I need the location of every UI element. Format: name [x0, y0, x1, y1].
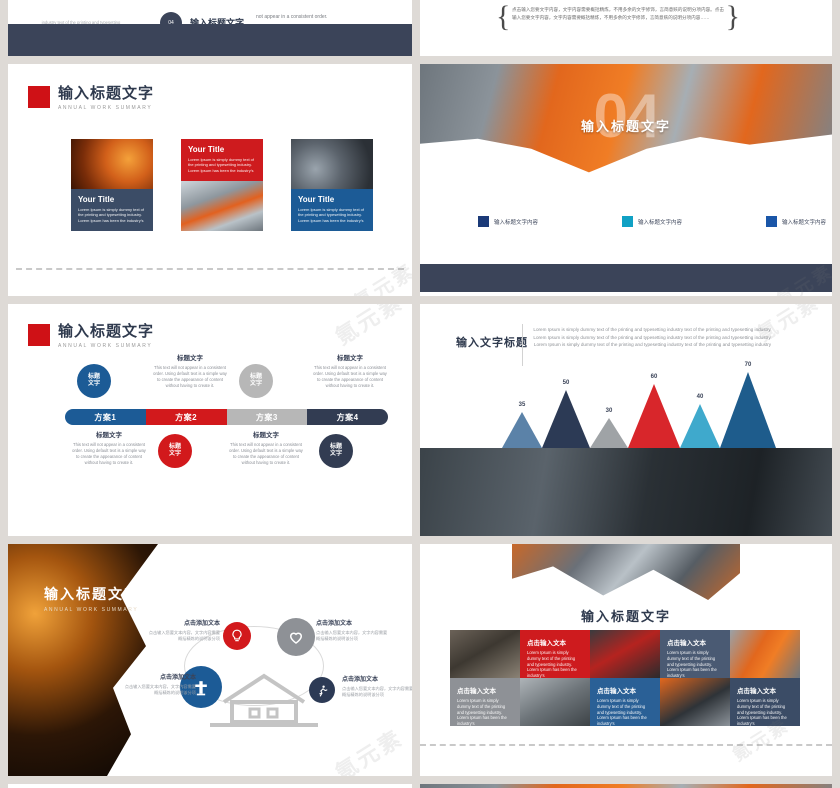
card-title: Your Title	[298, 195, 366, 205]
chart-bar[interactable]: 30 Value 3	[590, 418, 628, 448]
chart-bar-shape	[680, 404, 720, 448]
cell-body: Lorem Ipsum is simply dummy text of the …	[527, 650, 583, 678]
step-bubble-1[interactable]: 标题 文字	[77, 364, 111, 398]
card-body: Lorem Ipsum is simply dummy text of the …	[188, 157, 256, 173]
card-photo	[71, 139, 153, 189]
title-accent-square	[28, 86, 50, 108]
page-title: 输入标题文字	[44, 584, 140, 604]
title-accent-square	[28, 324, 50, 346]
node-heading: 点击添加文本	[148, 618, 220, 627]
photo-card[interactable]: Your Title Lorem Ipsum is simply dummy t…	[71, 139, 153, 231]
chart-bar[interactable]: 70 Value 6	[720, 372, 776, 448]
house-icon	[206, 672, 322, 730]
mosaic-text-cell[interactable]: 点击输入文本 Lorem Ipsum is simply dummy text …	[590, 678, 660, 726]
node-text-1: 点击添加文本 点击输入您要文本内容，文字内容需要概括精炼的说明该分项	[148, 618, 220, 642]
photo-card[interactable]: Your Title Lorem Ipsum is simply dummy t…	[291, 139, 373, 231]
step-title: 标题文字	[70, 429, 148, 439]
legend: 输入标题文字内容 输入标题文字内容 输入标题文字内容	[478, 216, 826, 227]
cell-title: 点击输入文本	[527, 637, 583, 647]
plan-bar: 方案1 方案2 方案3 方案4	[65, 409, 388, 425]
node-body: 点击输入您要文本内容，文字内容需要概括精炼的说明该分项	[148, 630, 220, 642]
legend-swatch	[766, 216, 777, 227]
quote-text: 点击输入您要文字内容，文字内容需要概括精炼，不用多余的文字修饰，言简意赅的说明分…	[512, 6, 724, 22]
watermark: 氪元素	[328, 304, 409, 351]
legend-label: 输入标题文字内容	[638, 218, 682, 226]
step-body: This text will not appear in a consisten…	[311, 365, 389, 389]
chart-value-label: 60	[651, 374, 658, 380]
chart-bar-shape	[502, 412, 542, 448]
photo-card[interactable]: Your Title Lorem Ipsum is simply dummy t…	[181, 139, 263, 231]
node-text-2: 点击添加文本 点击输入您要文本内容，文字内容需要概括精炼的说明该分项	[316, 618, 388, 642]
mosaic-photo-cell[interactable]	[590, 630, 660, 678]
runner-icon	[316, 684, 329, 697]
mosaic-grid: 点击输入文本 Lorem Ipsum is simply dummy text …	[450, 630, 800, 726]
step-body: This text will not appear in a consisten…	[70, 442, 148, 466]
step-bubble-2[interactable]: 标题 文字	[158, 434, 192, 468]
step-bubble-3[interactable]: 标题 文字	[239, 364, 273, 398]
bubble-line-2: 文字	[88, 381, 100, 389]
mosaic-photo-cell[interactable]	[520, 678, 590, 726]
chart-value-label: 70	[745, 362, 752, 368]
node-text-3: 点击添加文本 点击输入您要文本内容，文字内容需要概括精炼的说明该分项	[342, 674, 412, 698]
card-body: Lorem Ipsum is simply dummy text of the …	[78, 207, 146, 223]
step-text-4: 标题文字 This text will not appear in a cons…	[311, 352, 389, 389]
heart-hand-icon	[287, 628, 305, 646]
chart-bar[interactable]: 40 Value 5	[680, 404, 720, 448]
step-text-2: 标题文字 This text will not appear in a cons…	[151, 352, 229, 389]
node-body: 点击输入您要文本内容，文字内容需要概括精炼的说明该分项	[124, 684, 196, 696]
title-divider	[522, 324, 523, 366]
plan-segment-3[interactable]: 方案3	[227, 409, 308, 425]
card-photo	[291, 139, 373, 189]
slide-footer-photo	[420, 448, 832, 536]
step-body: This text will not appear in a consisten…	[227, 442, 305, 466]
slide-thumbnail-gallery: industry text of the printing and typese…	[0, 0, 840, 788]
plan-segment-2[interactable]: 方案2	[146, 409, 227, 425]
hero-title: 输入标题文字	[581, 116, 671, 135]
slide-thumbnail-chart[interactable]: 输入文字标题 Lorem Ipsum is simply dummy text …	[420, 304, 832, 536]
slide-thumbnail-partial-right[interactable]: { } 点击输入您要文字内容，文字内容需要概括精炼，不用多余的文字修饰，言简意赅…	[420, 0, 832, 56]
bubble-line-1: 标题	[88, 374, 100, 382]
page-title: 输入标题文字	[58, 86, 154, 102]
slide-header: 输入标题文字 ANNUAL WORK SUMMARY	[44, 584, 140, 613]
node-runner[interactable]	[309, 677, 335, 703]
card-photo	[181, 181, 263, 231]
legend-item[interactable]: 输入标题文字内容	[622, 216, 682, 227]
chart-bar-shape	[542, 390, 590, 448]
cell-body: Lorem Ipsum is simply dummy text of the …	[457, 698, 513, 726]
slide-photo	[420, 784, 832, 788]
fragment-right-text: not appear in a consistent order.	[256, 14, 376, 21]
slide-header: 输入标题文字 ANNUAL WORK SUMMARY	[28, 86, 154, 111]
watermark: 氪元素	[328, 721, 409, 776]
bubble-line-1: 标题	[169, 444, 181, 452]
node-heading: 点击添加文本	[342, 674, 412, 683]
chart-value-label: 35	[519, 402, 526, 408]
legend-swatch	[622, 216, 633, 227]
step-bubble-4[interactable]: 标题 文字	[319, 434, 353, 468]
node-heading: 点击添加文本	[124, 672, 196, 681]
bubble-line-2: 文字	[169, 451, 181, 459]
chart-bar[interactable]: 60 Value 4	[628, 384, 680, 448]
cell-title: 点击输入文本	[737, 685, 793, 695]
page-subtitle: ANNUAL WORK SUMMARY	[58, 105, 154, 111]
bubble-line-2: 文字	[250, 381, 262, 389]
slide-thumbnail-circle-diagram[interactable]: 输入标题文字 ANNUAL WORK SUMMARY	[8, 544, 412, 776]
slide-thumbnail-photo-mosaic[interactable]: 输入标题文字 点击输入文本 Lorem Ipsum is simply dumm…	[420, 544, 832, 776]
step-title: 标题文字	[151, 352, 229, 362]
card-body: Lorem Ipsum is simply dummy text of the …	[298, 207, 366, 223]
node-text-4: 点击添加文本 点击输入您要文本内容，文字内容需要概括精炼的说明该分项	[124, 672, 196, 696]
page-title: 输入标题文字	[420, 606, 832, 625]
chart-bar-shape	[628, 384, 680, 448]
mosaic-text-cell[interactable]: 点击输入文本 Lorem Ipsum is simply dummy text …	[730, 678, 800, 726]
step-body: This text will not appear in a consisten…	[151, 365, 229, 389]
page-subtitle: ANNUAL WORK SUMMARY	[44, 607, 140, 613]
step-text-3: 标题文字 This text will not appear in a cons…	[227, 429, 305, 466]
hero-mask-photo	[512, 544, 740, 600]
chart-description: Lorem Ipsum is simply dummy text of the …	[530, 326, 775, 349]
bubble-line-2: 文字	[330, 451, 342, 459]
hero-photo: 04 输入标题文字	[420, 64, 832, 174]
legend-item[interactable]: 输入标题文字内容	[766, 216, 826, 227]
lightbulb-icon	[230, 629, 244, 643]
card-row: Your Title Lorem Ipsum is simply dummy t…	[71, 139, 373, 231]
card-caption: Your Title Lorem Ipsum is simply dummy t…	[181, 139, 263, 181]
watermark: 氪元素	[347, 255, 412, 296]
node-heart-hand[interactable]	[277, 618, 315, 656]
mosaic-text-cell[interactable]: 点击输入文本 Lorem Ipsum is simply dummy text …	[520, 630, 590, 678]
chart-value-label: 40	[697, 394, 704, 400]
mosaic-photo-cell[interactable]	[450, 630, 520, 678]
card-caption: Your Title Lorem Ipsum is simply dummy t…	[291, 189, 373, 231]
node-body: 点击输入您要文本内容，文字内容需要概括精炼的说明该分项	[316, 630, 388, 642]
mosaic-photo-cell[interactable]	[660, 678, 730, 726]
bubble-line-1: 标题	[250, 374, 262, 382]
node-lightbulb[interactable]	[223, 622, 251, 650]
bubble-line-1: 标题	[330, 444, 342, 452]
chart-title: 输入文字标题	[456, 334, 528, 350]
slide-header: 输入标题文字 ANNUAL WORK SUMMARY	[28, 324, 154, 349]
chart-bar-shape	[720, 372, 776, 448]
slide-footer-bar	[420, 264, 832, 292]
cell-body: Lorem Ipsum is simply dummy text of the …	[597, 698, 653, 726]
slide-thumbnail-partial-bottom-right[interactable]	[420, 784, 832, 788]
node-heading: 点击添加文本	[316, 618, 388, 627]
card-title: Your Title	[188, 145, 256, 155]
slide-thumbnail-partial-left[interactable]: industry text of the printing and typese…	[8, 0, 412, 56]
side-photo	[8, 544, 158, 776]
mosaic-text-cell[interactable]: 点击输入文本 Lorem Ipsum is simply dummy text …	[450, 678, 520, 726]
brace-right-icon: }	[726, 0, 740, 34]
step-title: 标题文字	[227, 429, 305, 439]
brace-left-icon: {	[496, 0, 510, 34]
chart-bar[interactable]: 35 Value 1	[502, 412, 542, 448]
chart-bar[interactable]: 50 Value 2	[542, 390, 590, 448]
chart-plot-area: 35 Value 1 50 Value 2 30 Value 3 60 Valu…	[502, 366, 832, 448]
section-divider	[16, 268, 404, 270]
cell-title: 点击输入文本	[667, 637, 723, 647]
cell-title: 点击输入文本	[457, 685, 513, 695]
slide-footer-bar	[8, 24, 412, 56]
cell-title: 点击输入文本	[597, 685, 653, 695]
chart-value-label: 30	[606, 408, 613, 414]
page-title: 输入标题文字	[58, 324, 154, 340]
step-text-1: 标题文字 This text will not appear in a cons…	[70, 429, 148, 466]
legend-item[interactable]: 输入标题文字内容	[478, 216, 538, 227]
mosaic-text-cell[interactable]: 点击输入文本 Lorem Ipsum is simply dummy text …	[660, 630, 730, 678]
chart-bar-shape	[590, 418, 628, 448]
slide-thumbnail-photo-cards[interactable]: 输入标题文字 ANNUAL WORK SUMMARY Your Title Lo…	[8, 64, 412, 296]
page-subtitle: ANNUAL WORK SUMMARY	[58, 343, 154, 349]
plan-segment-4[interactable]: 方案4	[307, 409, 388, 425]
card-caption: Your Title Lorem Ipsum is simply dummy t…	[71, 189, 153, 231]
legend-swatch	[478, 216, 489, 227]
slide-thumbnail-plan-steps[interactable]: 输入标题文字 ANNUAL WORK SUMMARY 标题 文字 标题 文字 标…	[8, 304, 412, 536]
chart-value-label: 50	[563, 380, 570, 386]
plan-segment-1[interactable]: 方案1	[65, 409, 146, 425]
legend-label: 输入标题文字内容	[782, 218, 826, 226]
cell-body: Lorem Ipsum is simply dummy text of the …	[667, 650, 723, 678]
legend-label: 输入标题文字内容	[494, 218, 538, 226]
cell-body: Lorem Ipsum is simply dummy text of the …	[737, 698, 793, 726]
mosaic-photo-cell[interactable]	[730, 630, 800, 678]
slide-thumbnail-section-hero[interactable]: 04 输入标题文字 输入标题文字内容 输入标题文字内容 输入标题文字内容 氪元素	[420, 64, 832, 296]
section-divider	[420, 744, 832, 746]
slide-thumbnail-partial-bottom-left[interactable]	[8, 784, 412, 788]
step-title: 标题文字	[311, 352, 389, 362]
node-body: 点击输入您要文本内容，文字内容需要概括精炼的说明该分项	[342, 686, 412, 698]
card-title: Your Title	[78, 195, 146, 205]
quote-block: { } 点击输入您要文字内容，文字内容需要概括精炼，不用多余的文字修饰，言简意赅…	[512, 6, 724, 22]
